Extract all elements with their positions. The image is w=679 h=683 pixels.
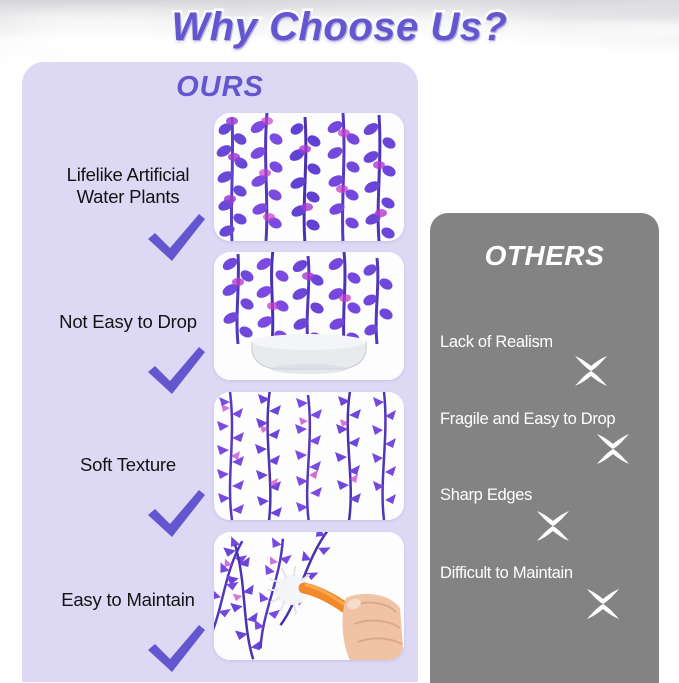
ours-heading: OURS xyxy=(22,71,418,104)
plants-illustration-1 xyxy=(214,113,404,241)
ours-photo-1 xyxy=(214,113,404,241)
photo-canvas xyxy=(214,113,404,241)
ours-item-2-label-line1: Not Easy to Drop xyxy=(59,311,197,332)
ours-item-3-label: Soft Texture xyxy=(30,454,226,476)
others-panel: OTHERS Lack of Realism Fragile and Easy … xyxy=(430,213,659,683)
ours-item-4-label-line1: Easy to Maintain xyxy=(61,589,195,610)
x-icon xyxy=(585,586,621,622)
plants-with-base-illustration xyxy=(214,252,404,380)
check-icon xyxy=(145,623,207,677)
check-icon xyxy=(145,212,207,266)
x-icon xyxy=(535,508,571,544)
others-item-1-label: Lack of Realism xyxy=(440,332,652,352)
ours-item-2-label: Not Easy to Drop xyxy=(30,311,226,333)
x-icon xyxy=(573,353,609,389)
check-icon xyxy=(145,488,207,542)
ours-item-3-label-line1: Soft Texture xyxy=(80,454,176,475)
ours-panel: OURS xyxy=(22,62,418,682)
plant-base xyxy=(252,334,367,374)
others-heading: OTHERS xyxy=(430,240,659,272)
x-icon xyxy=(595,431,631,467)
photo-canvas xyxy=(214,532,404,660)
others-item-3-label: Sharp Edges xyxy=(440,485,652,505)
photo-canvas xyxy=(214,392,404,520)
others-item-2-label: Fragile and Easy to Drop xyxy=(440,409,652,429)
soft-texture-plants-illustration xyxy=(214,392,404,520)
photo-canvas xyxy=(214,252,404,380)
hand xyxy=(343,594,404,660)
ours-photo-3 xyxy=(214,392,404,520)
others-item-4-label: Difficult to Maintain xyxy=(440,563,652,583)
page-title: Why Choose Us? xyxy=(0,5,679,50)
check-icon xyxy=(145,345,207,399)
cleaning-brush-illustration xyxy=(214,532,404,660)
ours-item-1-label-line1: Lifelike Artificial xyxy=(67,164,190,185)
ours-photo-2 xyxy=(214,252,404,380)
ours-item-1-label: Lifelike Artificial Water Plants xyxy=(30,164,226,208)
ours-photo-4 xyxy=(214,532,404,660)
ours-item-1-label-line2: Water Plants xyxy=(77,186,180,207)
ours-item-4-label: Easy to Maintain xyxy=(30,589,226,611)
